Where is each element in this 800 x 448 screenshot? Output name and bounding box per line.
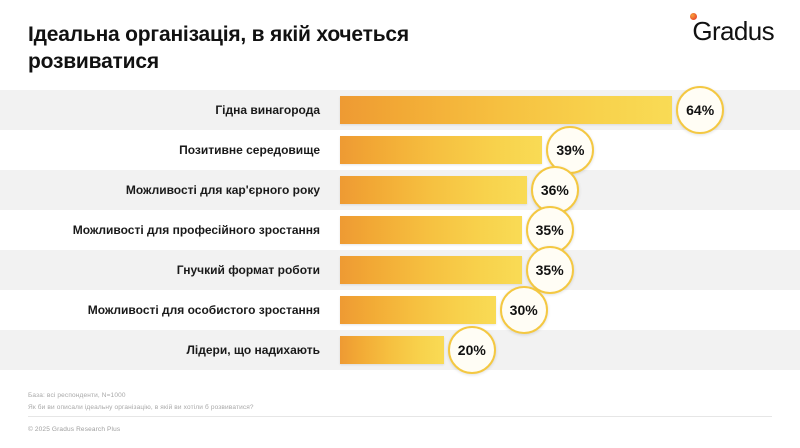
bar [340,96,672,124]
bar-category-label: Лідери, що надихають [0,330,330,370]
bar-category-label: Можливості для особистого зростання [0,290,330,330]
chart-row: Можливості для кар'єрного року36% [0,170,800,210]
footnote-base: База: всі респонденти, N=1000 [28,392,126,399]
bar-category-label: Позитивне середовище [0,130,330,170]
chart-row: Можливості для особистого зростання30% [0,290,800,330]
logo-label: Gradus [692,16,774,46]
bar-track: 64% [340,90,800,130]
bar-category-label: Можливості для професійного зростання [0,210,330,250]
logo-wordmark: Gradus [692,18,774,44]
bar-value-badge: 20% [448,326,496,374]
bar-track: 30% [340,290,800,330]
chart-header: Ідеальна організація, в якій хочеться ро… [0,0,800,90]
bar-track: 39% [340,130,800,170]
bar-value-badge: 30% [500,286,548,334]
copyright-text: © 2025 Gradus Research Plus [28,426,120,433]
bar [340,256,522,284]
bar [340,336,444,364]
bar-category-label: Можливості для кар'єрного року [0,170,330,210]
chart-footer: База: всі респонденти, N=1000 Як би ви о… [0,372,800,448]
bar-track: 36% [340,170,800,210]
bar-value-badge: 35% [526,246,574,294]
footnote-question: Як би ви описали ідеальну організацію, в… [28,404,254,411]
bar [340,216,522,244]
bar-value-badge: 64% [676,86,724,134]
gradus-logo: Gradus [692,18,774,44]
bar [340,176,527,204]
bar [340,136,542,164]
page-title: Ідеальна організація, в якій хочеться ро… [28,22,588,76]
chart-row: Гнучкий формат роботи35% [0,250,800,290]
chart-row: Лідери, що надихають20% [0,330,800,370]
bar-track: 20% [340,330,800,370]
footer-divider [28,416,772,417]
chart-row: Позитивне середовище39% [0,130,800,170]
bar [340,296,496,324]
bar-track: 35% [340,250,800,290]
bar-category-label: Гнучкий формат роботи [0,250,330,290]
bar-chart-plot: Гідна винагорода64%Позитивне середовище3… [0,90,800,372]
chart-row: Можливості для професійного зростання35% [0,210,800,250]
chart-row: Гідна винагорода64% [0,90,800,130]
bar-category-label: Гідна винагорода [0,90,330,130]
bar-track: 35% [340,210,800,250]
